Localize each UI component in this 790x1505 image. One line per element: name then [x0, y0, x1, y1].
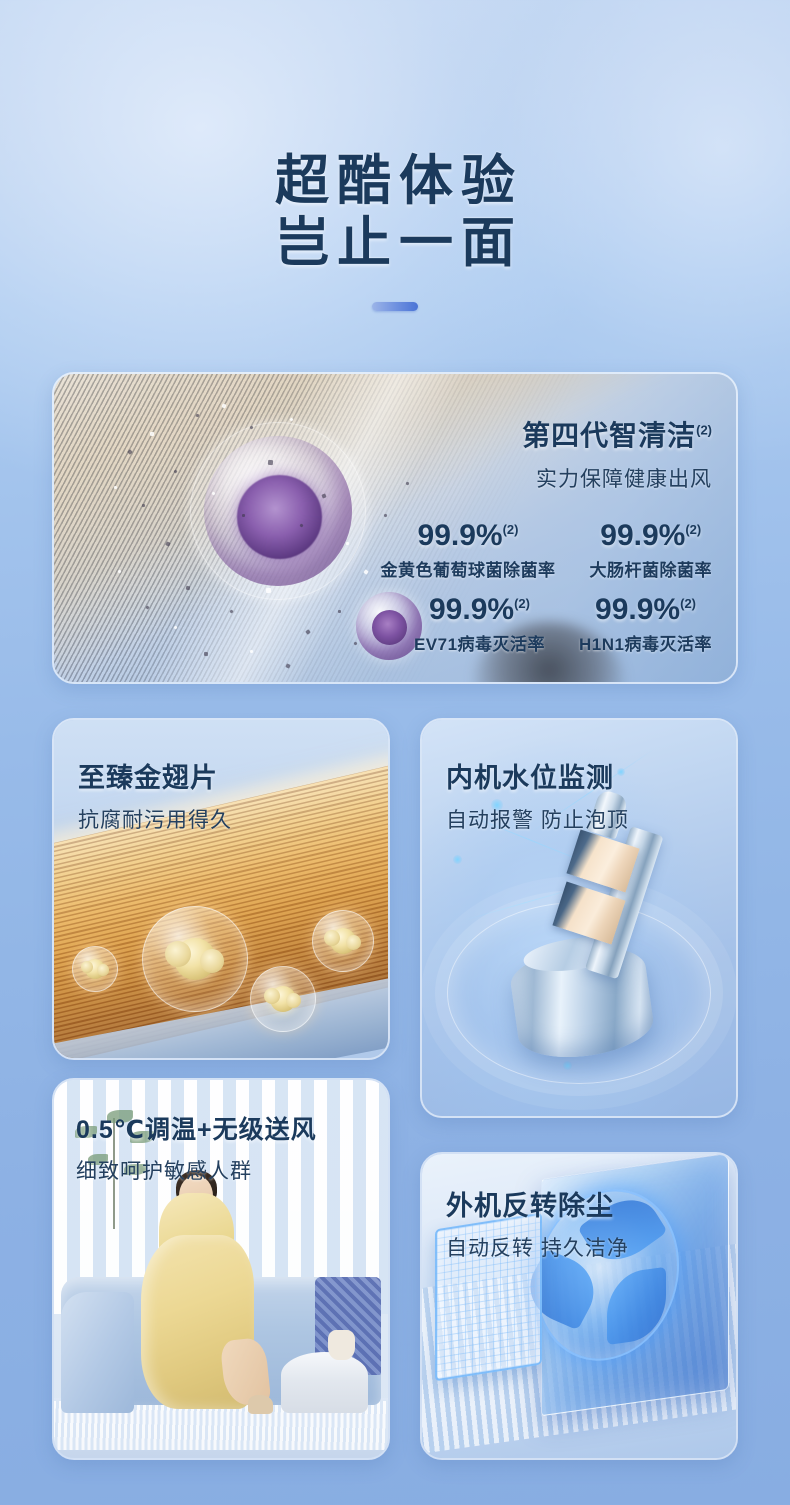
particle-speck: [117, 569, 121, 573]
particle-speck: [186, 586, 191, 591]
card-water-level-copy: 内机水位监测 自动报警 防止泡顶: [446, 756, 629, 834]
feature-card-outdoor-dust[interactable]: 外机反转除尘 自动反转 持久洁净: [420, 1152, 738, 1460]
feature-card-temperature[interactable]: 0.5℃调温+无级送风 细致呵护敏感人群: [52, 1078, 390, 1460]
title-divider: [372, 302, 418, 311]
stat-ecoli-footnote: (2): [685, 522, 701, 537]
particle-speck: [114, 486, 117, 489]
card-water-level-subtitle: 自动报警 防止泡顶: [446, 804, 629, 834]
stat-h1n1: 99.9%(2) H1N1病毒灭活率: [579, 593, 712, 655]
bubble-small-left: [72, 946, 118, 992]
card-gold-fins-title: 至臻金翅片: [78, 756, 232, 795]
stat-ecoli: 99.9%(2) 大肠杆菌除菌率: [590, 519, 713, 581]
stat-row-1: 99.9%(2) 金黄色葡萄球菌除菌率 99.9%(2) 大肠杆菌除菌率: [381, 519, 713, 581]
particle-speck: [142, 504, 146, 508]
feature-card-gold-fins[interactable]: 至臻金翅片 抗腐耐污用得久: [52, 718, 390, 1060]
bubble-large-center: [142, 906, 248, 1012]
card-water-level-title: 内机水位监测: [446, 756, 629, 795]
stat-h1n1-label: H1N1病毒灭活率: [579, 630, 712, 655]
feature-card-sterilisation[interactable]: 第四代智清洁(2) 实力保障健康出风 99.9%(2) 金黄色葡萄球菌除菌率 9…: [52, 372, 738, 684]
card-sterilisation-title-footnote: (2): [696, 423, 712, 438]
particle-speck: [353, 641, 357, 645]
card-temperature-copy: 0.5℃调温+无级送风 细致呵护敏感人群: [76, 1110, 317, 1185]
stat-ev71: 99.9%(2) EV71病毒灭活率: [414, 593, 545, 655]
stat-staph-value-wrap: 99.9%(2): [381, 519, 556, 553]
card-sterilisation-title-text: 第四代智清洁: [522, 420, 696, 451]
feature-card-water-level[interactable]: 内机水位监测 自动报警 防止泡顶: [420, 718, 738, 1118]
stat-staph-label: 金黄色葡萄球菌除菌率: [381, 556, 556, 581]
card-outdoor-dust-title: 外机反转除尘: [446, 1184, 629, 1223]
card-temperature-subtitle: 细致呵护敏感人群: [76, 1155, 317, 1185]
particle-speck: [165, 541, 170, 546]
particle-speck: [338, 610, 341, 613]
molecule-icon: [85, 959, 105, 979]
particle-speck: [173, 469, 177, 473]
particle-speck: [127, 449, 133, 455]
card-outdoor-dust-copy: 外机反转除尘 自动反转 持久洁净: [446, 1184, 629, 1262]
woman-shoe: [248, 1395, 273, 1414]
bubble-top-right: [312, 910, 374, 972]
stat-h1n1-value-wrap: 99.9%(2): [579, 593, 712, 627]
particle-speck: [249, 425, 253, 429]
page-title-line-2: 岂止一面: [0, 212, 790, 274]
stat-row-2: 99.9%(2) EV71病毒灭活率 99.9%(2) H1N1病毒灭活率: [381, 593, 713, 655]
card-gold-fins-subtitle: 抗腐耐污用得久: [78, 804, 232, 834]
particle-speck: [229, 609, 233, 613]
card-sterilisation-subtitle: 实力保障健康出风: [381, 463, 713, 493]
molecule-icon: [174, 938, 216, 980]
particle-speck: [145, 605, 149, 609]
particle-speck: [363, 569, 369, 575]
particle-speck: [173, 625, 177, 629]
card-sterilisation-title: 第四代智清洁(2): [381, 414, 713, 454]
particle-speck: [299, 523, 303, 527]
particle-speck: [204, 652, 208, 656]
card-outdoor-dust-subtitle: 自动反转 持久洁净: [446, 1232, 629, 1262]
stat-staph-value: 99.9%: [418, 519, 503, 552]
tech-glow-dot: [453, 855, 462, 864]
stat-ev71-footnote: (2): [514, 596, 530, 611]
particle-speck: [150, 432, 154, 436]
page-header: 超酷体验 岂止一面: [0, 150, 790, 311]
sterilisation-stat-grid: 99.9%(2) 金黄色葡萄球菌除菌率 99.9%(2) 大肠杆菌除菌率 99.…: [381, 519, 713, 655]
card-sterilisation-copy: 第四代智清洁(2) 实力保障健康出风 99.9%(2) 金黄色葡萄球菌除菌率 9…: [381, 414, 713, 655]
particle-speck: [289, 417, 293, 421]
particle-speck: [285, 663, 290, 668]
particle-speck: [196, 414, 200, 418]
particle-speck: [305, 629, 311, 635]
stat-ecoli-label: 大肠杆菌除菌率: [590, 556, 713, 581]
stat-ev71-label: EV71病毒灭活率: [414, 630, 545, 655]
particle-speck: [268, 460, 273, 465]
pregnant-woman-figure: [141, 1175, 255, 1409]
molecule-icon: [270, 986, 296, 1012]
stat-h1n1-footnote: (2): [680, 596, 696, 611]
particle-speck: [346, 542, 350, 546]
particle-speck: [250, 650, 254, 654]
sofa-armrest: [61, 1292, 134, 1413]
table-vase: [328, 1330, 355, 1360]
stat-ev71-value: 99.9%: [429, 593, 514, 626]
card-gold-fins-copy: 至臻金翅片 抗腐耐污用得久: [78, 756, 232, 834]
stat-ecoli-value: 99.9%: [600, 519, 685, 552]
page-title-line-1: 超酷体验: [0, 150, 790, 212]
particle-speck: [242, 514, 245, 517]
bubble-medium-right: [250, 966, 316, 1032]
coffee-table: [281, 1352, 368, 1412]
particle-speck: [221, 403, 226, 408]
stat-ev71-value-wrap: 99.9%(2): [414, 593, 545, 627]
stat-ecoli-value-wrap: 99.9%(2): [590, 519, 713, 553]
particle-speck: [321, 493, 326, 498]
particle-speck: [211, 491, 215, 495]
molecule-icon: [330, 928, 356, 954]
stat-h1n1-value: 99.9%: [595, 593, 680, 626]
particle-speck: [266, 588, 271, 593]
card-temperature-title: 0.5℃调温+无级送风: [76, 1110, 317, 1146]
stat-staph-footnote: (2): [503, 522, 519, 537]
stat-staph: 99.9%(2) 金黄色葡萄球菌除菌率: [381, 519, 556, 581]
